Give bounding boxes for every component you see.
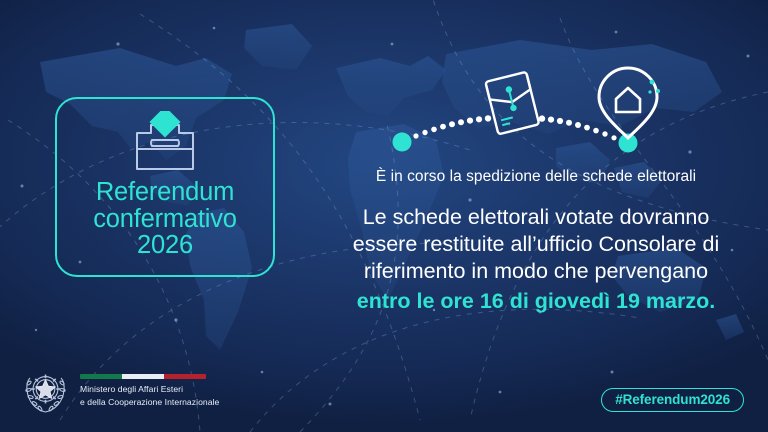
ministry-line-2: e della Cooperazione Internazionale: [80, 396, 219, 408]
hashtag-badge[interactable]: #Referendum2026: [601, 388, 744, 413]
referendum-poster: Referendum confermativo 2026: [0, 0, 768, 432]
ministry-name: Ministero degli Affari Esteri e della Co…: [80, 383, 219, 407]
body-line-3: riferimento in modo che pervengano: [336, 258, 736, 285]
origin-dot: [393, 133, 412, 152]
ballot-box-icon: [127, 111, 203, 173]
card-title-line-2: confermativo: [93, 206, 237, 233]
flag-stripe-red: [164, 374, 206, 379]
lead-text: È in corso la spedizione delle schede el…: [336, 168, 736, 186]
deadline-text: entro le ore 16 di giovedì 19 marzo.: [336, 288, 736, 315]
italian-tricolor-bar: [80, 374, 206, 379]
body-line-1: Le schede elettorali votate dovranno: [336, 204, 736, 231]
italian-republic-emblem: [22, 366, 69, 416]
ministry-line-1: Ministero degli Affari Esteri: [80, 383, 219, 395]
card-title-line-1: Referendum: [93, 179, 237, 206]
body-text: Le schede elettorali votate dovranno ess…: [336, 204, 736, 315]
location-pin-home-icon: [599, 68, 660, 138]
envelope-icon: [485, 72, 539, 135]
shipping-journey-graphic: [380, 58, 680, 168]
card-title-line-3: 2026: [93, 232, 237, 259]
ministry-identity: Ministero degli Affari Esteri e della Co…: [80, 374, 219, 407]
message-block: È in corso la spedizione delle schede el…: [336, 168, 736, 315]
body-line-2: essere restituite all’ufficio Consolare …: [336, 231, 736, 258]
ministry-footer: Ministero degli Affari Esteri e della Co…: [22, 366, 219, 416]
referendum-title-card: Referendum confermativo 2026: [55, 97, 275, 277]
flag-stripe-white: [122, 374, 164, 379]
flag-stripe-green: [80, 374, 122, 379]
card-title: Referendum confermativo 2026: [93, 179, 237, 259]
dotted-arc-path: [413, 115, 616, 140]
